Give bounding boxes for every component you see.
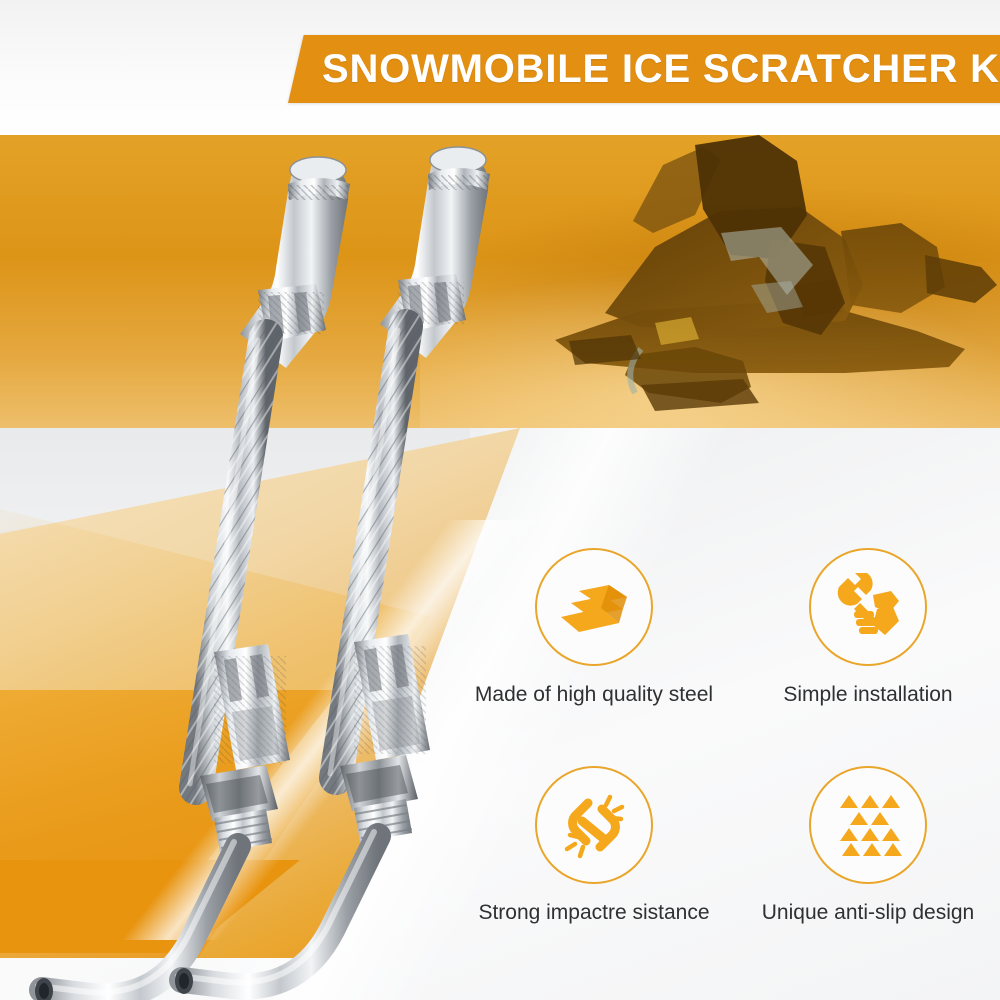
feature-item: Simple installation: [736, 548, 1000, 748]
page-title: SNOWMOBILE ICE SCRATCHER KIT: [322, 38, 1000, 100]
impact-chain-link-icon: [535, 766, 653, 884]
feature-item: Made of high quality steel: [462, 548, 726, 748]
triangle-tread-grid-icon: [809, 766, 927, 884]
feature-label: Made of high quality steel: [475, 682, 713, 707]
feature-label: Unique anti-slip design: [762, 900, 974, 925]
feature-label: Strong impactre sistance: [478, 900, 709, 925]
stacked-steel-sheets-icon: [535, 548, 653, 666]
snowmobile-illustration: [545, 135, 1000, 428]
feature-item: Strong impactre sistance: [462, 766, 726, 966]
feature-item: Unique anti-slip design: [736, 766, 1000, 966]
product-marketing-image: SNOWMOBILE ICE SCRATCHER KIT: [0, 0, 1000, 1000]
feature-grid: Made of high quality steel: [462, 548, 1000, 966]
feature-label: Simple installation: [783, 682, 952, 707]
hand-with-wrench-icon: [809, 548, 927, 666]
product-photo: [0, 140, 520, 1000]
